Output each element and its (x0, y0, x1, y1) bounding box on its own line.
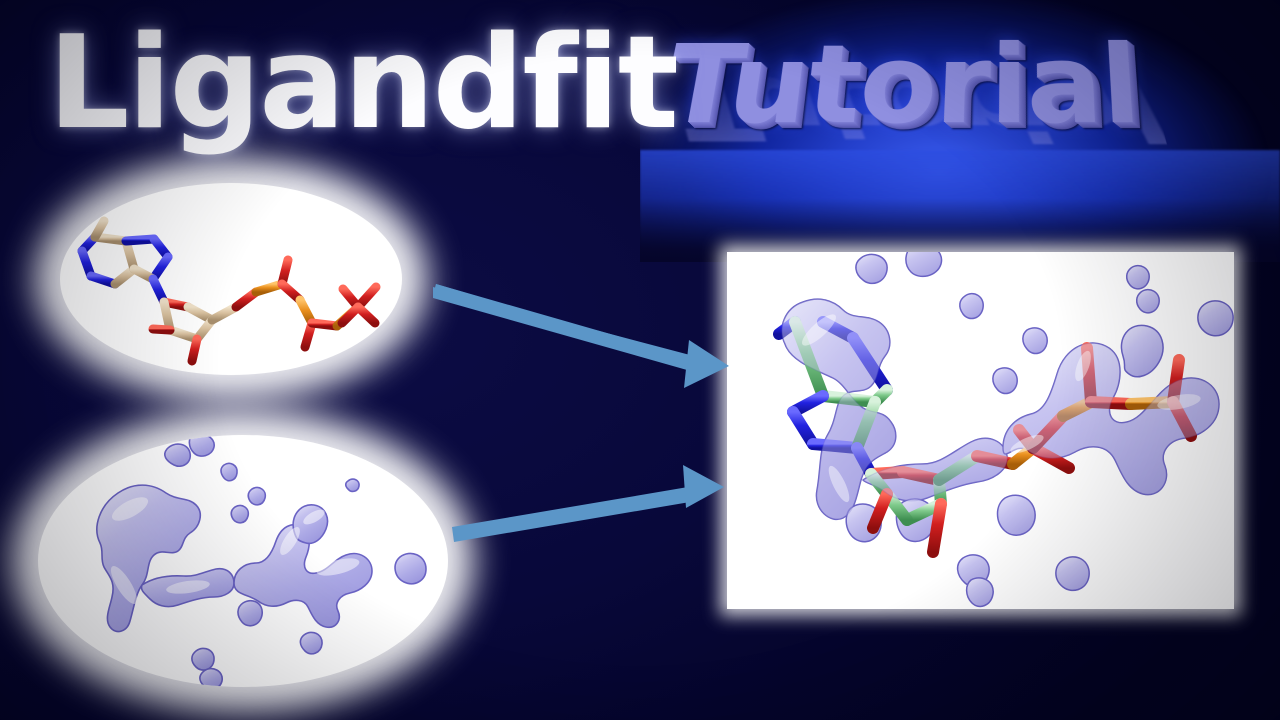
density-map-canvas (38, 435, 448, 687)
fitted-ligand-panel[interactable] (727, 252, 1234, 609)
slide-root: Tutorial Tutorial Ligandfit (0, 0, 1280, 720)
tutorial-banner: Tutorial Tutorial (640, 0, 1280, 262)
electron-density-isosurface (38, 435, 448, 687)
density-map-panel[interactable] (38, 435, 448, 687)
page-title: Ligandfit (48, 14, 648, 154)
ligand-model-panel[interactable] (60, 183, 402, 375)
atp-stick-model-tan (60, 183, 402, 375)
tutorial-text: Tutorial (668, 17, 1157, 158)
ligand-in-density-render (727, 252, 1234, 609)
fitted-ligand-canvas (727, 252, 1234, 609)
ligand-model-canvas (60, 183, 402, 375)
